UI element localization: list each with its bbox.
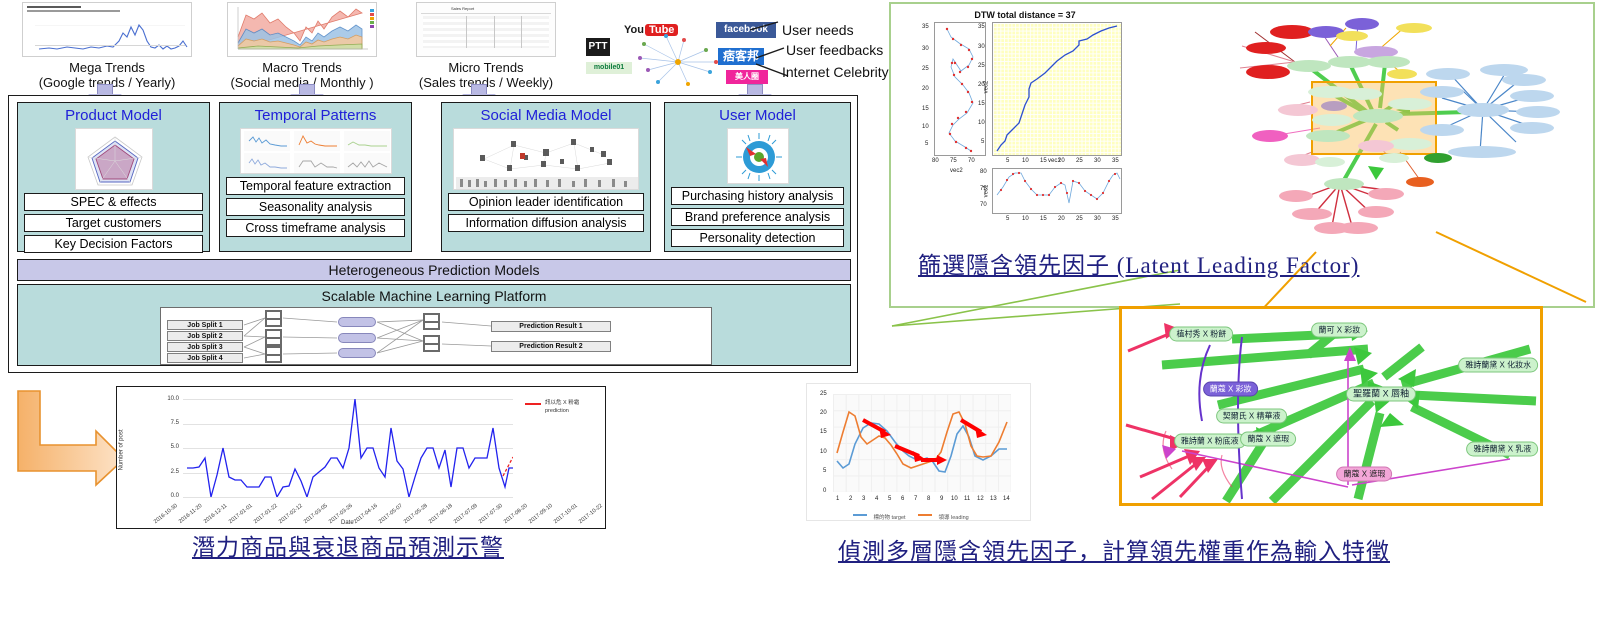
macro-trends-thumbnail <box>227 2 377 57</box>
micro-trends-thumbnail: Sales Report <box>416 2 556 57</box>
ll-ytick-20: 20 <box>820 410 827 416</box>
dtw-ytick-10: 10 <box>978 120 985 126</box>
lead-lag-plot-area <box>833 394 1011 492</box>
dtw-bot-xtick-30: 30 <box>1094 216 1101 222</box>
pipeline-pill-3 <box>338 348 376 358</box>
chart-axis <box>35 45 185 46</box>
ll-xtick-5: 5 <box>888 496 891 502</box>
pipeline-diagram: Job Split 1 Job Split 2 Job Split 3 Job … <box>160 307 712 365</box>
architecture-panel: Product Model SPEC & effects Target cust… <box>8 95 858 373</box>
line-chart-ylabel: Number of post <box>119 429 125 470</box>
dtw-bot-xtick-15: 15 <box>1040 216 1047 222</box>
xtick-3: 2017-01-01 <box>228 503 254 525</box>
product-item-2[interactable]: Key Decision Factors <box>24 235 203 253</box>
dtw-left-ytick-20: 20 <box>922 86 929 92</box>
dtw-left-ytick-35: 35 <box>922 24 929 30</box>
dtw-bot-xtick-10: 10 <box>1022 216 1029 222</box>
dtw-left-xtick-80: 80 <box>932 158 939 164</box>
zoom-node-2: 聖羅蘭 X 唇釉 <box>1346 387 1416 402</box>
zoom-node-1: 蘭可 X 彩妝 <box>1311 323 1367 338</box>
ytick-10: 10.0 <box>157 396 179 402</box>
ll-xtick-7: 7 <box>914 496 917 502</box>
pipeline-node-b1 <box>423 313 440 330</box>
dtw-warping-path <box>993 23 1121 155</box>
heterogeneous-prediction-models-band: Heterogeneous Prediction Models <box>17 259 851 281</box>
prediction-result-2: Prediction Result 2 <box>491 341 611 352</box>
ytick-7p5: 7.5 <box>157 420 179 426</box>
xtick-17: 2017-10-22 <box>578 503 604 525</box>
dtw-figure: DTW total distance = 37 <box>910 6 1140 234</box>
legend-swatches <box>370 9 374 29</box>
dtw-left-ytick-5: 5 <box>925 141 928 147</box>
ytick-2p5: 2.5 <box>157 469 179 475</box>
xtick-10: 2017-05-28 <box>403 503 429 525</box>
dtw-bot-ytick-70: 70 <box>980 202 987 208</box>
zoomed-network-graph: 植村秀 X 粉餅 蘭可 X 彩妝 聖羅蘭 X 唇釉 雅詩蘭黛 X 化妝水 雅詩蘭… <box>1119 306 1543 506</box>
xtick-5: 2017-02-12 <box>278 503 304 525</box>
macro-trends-area-chart <box>228 3 377 57</box>
dtw-bot-ytick-75: 75 <box>980 186 987 192</box>
dtw-bot-xtick-35: 35 <box>1112 216 1119 222</box>
dtw-vec1-curve <box>993 169 1121 213</box>
xtick-6: 2017-03-05 <box>303 503 329 525</box>
model-column-temporal: Temporal Patterns Temporal feature extra… <box>219 102 412 252</box>
dtw-main-yticks: 35 <box>978 24 985 30</box>
dtw-left-xlabel: vec2 <box>950 168 963 174</box>
social-media-model-title: Social Media Model <box>442 107 650 124</box>
dtw-ytick-25: 25 <box>978 63 985 69</box>
lead-label-user-needs: User needs <box>782 22 854 38</box>
model-column-user: User Model Purchasing history analysis <box>664 102 851 252</box>
product-item-1[interactable]: Target customers <box>24 214 203 232</box>
xtick-12: 2017-07-09 <box>453 503 479 525</box>
dtw-bottom-subplot <box>992 168 1122 214</box>
radar-chart-thumbnail <box>75 128 153 190</box>
dtw-left-subplot <box>934 22 986 156</box>
gridline-bottom <box>183 497 513 498</box>
ll-xtick-3: 3 <box>862 496 865 502</box>
dtw-bot-ytick-80: 80 <box>980 169 987 175</box>
temporal-item-1[interactable]: Seasonality analysis <box>226 198 405 216</box>
user-item-1[interactable]: Brand preference analysis <box>671 208 844 226</box>
dtw-left-ytick-10: 10 <box>922 124 929 130</box>
line-chart-xlabel: Date <box>341 520 354 526</box>
dtw-main-xtick-30: 30 <box>1094 158 1101 164</box>
lead-lag-legend: 標的物 target 領導 leading <box>853 506 969 524</box>
user-model-title: User Model <box>665 107 850 124</box>
user-gear-thumbnail <box>727 128 789 184</box>
lead-lag-chart: 25 20 15 10 5 0 1 2 3 4 5 6 7 8 9 10 11 … <box>806 383 1031 521</box>
zoom-node-4: 雅詩蘭黛 X 乳液 <box>1466 441 1538 456</box>
dtw-vec2-curve <box>935 23 985 155</box>
ll-xtick-9: 9 <box>940 496 943 502</box>
mega-trends-sparkline <box>23 3 192 57</box>
ll-xtick-2: 2 <box>849 496 852 502</box>
ll-xtick-1: 1 <box>836 496 839 502</box>
mega-trends-thumbnail <box>22 2 192 57</box>
dtw-main-xtick-20: 20 <box>1058 158 1065 164</box>
xtick-15: 2017-09-10 <box>528 503 554 525</box>
temporal-patterns-title: Temporal Patterns <box>220 107 411 124</box>
user-item-0[interactable]: Purchasing history analysis <box>671 187 844 205</box>
lead-lag-series <box>833 394 1011 492</box>
source-block-mega: Mega Trends (Google trends / Yearly) <box>22 2 192 90</box>
legend-label-prediction: prediction <box>545 408 601 414</box>
latent-factor-network-graph <box>1180 2 1600 252</box>
flow-arrow-to-forecast <box>6 389 128 489</box>
ll-xtick-14: 14 <box>1003 496 1010 502</box>
ll-xtick-12: 12 <box>977 496 984 502</box>
micro-trends-title: Micro Trends <box>400 60 572 75</box>
line-chart-plot-area <box>183 399 513 497</box>
pipeline-node-b2 <box>423 335 440 352</box>
macro-trends-title: Macro Trends <box>222 60 382 75</box>
zoom-node-7: 雅詩蘭 X 粉底液 <box>1174 433 1246 448</box>
model-column-product: Product Model SPEC & effects Target cust… <box>17 102 210 252</box>
zoom-node-3: 雅詩蘭黛 X 化妝水 <box>1458 358 1538 373</box>
dtw-main-xtick-25: 25 <box>1076 158 1083 164</box>
ll-xtick-4: 4 <box>875 496 878 502</box>
dtw-left-xtick-75: 75 <box>950 158 957 164</box>
ll-ytick-5: 5 <box>823 468 826 474</box>
dtw-ytick-15: 15 <box>978 101 985 107</box>
ll-ytick-15: 15 <box>820 429 827 435</box>
xtick-4: 2017-01-22 <box>253 503 279 525</box>
mini-timeseries-grid-thumbnail <box>240 128 392 174</box>
product-item-0[interactable]: SPEC & effects <box>24 193 203 211</box>
pipeline-node-a2 <box>265 329 282 346</box>
mega-trends-title: Mega Trends <box>22 60 192 75</box>
xtick-16: 2017-10-01 <box>553 503 579 525</box>
product-model-title: Product Model <box>18 107 209 124</box>
ll-ytick-10: 10 <box>820 449 827 455</box>
zoom-node-5: 蘭蔻 X 彩妝 <box>1203 381 1259 396</box>
dtw-ytick-5: 5 <box>981 139 984 145</box>
ptt-logo: PTT <box>586 38 610 56</box>
ll-xtick-13: 13 <box>990 496 997 502</box>
user-gear-icon <box>728 129 789 184</box>
temporal-item-0[interactable]: Temporal feature extraction <box>226 177 405 195</box>
dtw-warping-path-subplot <box>992 22 1122 156</box>
ll-xtick-6: 6 <box>901 496 904 502</box>
source-block-macro: Macro Trends (Social media / Monthly ) <box>222 2 382 90</box>
dtw-main-xtick-10: 10 <box>1022 158 1029 164</box>
xtick-0: 2016-10-30 <box>153 503 179 525</box>
dtw-ytick-30: 30 <box>978 44 985 50</box>
dtw-main-xtick-15: 15 <box>1040 158 1047 164</box>
report-header: Sales Report <box>421 6 551 14</box>
ll-ytick-25: 25 <box>820 391 827 397</box>
pipeline-node-a3 <box>265 346 282 363</box>
xtick-13: 2017-07-30 <box>478 503 504 525</box>
social-network-thumbnail <box>453 128 639 190</box>
dtw-main-xtick-5: 5 <box>1006 158 1009 164</box>
post-count-series <box>183 399 513 497</box>
ll-ytick-0: 0 <box>823 488 826 494</box>
caption-multilayer-factors: 偵測多層隱含領先因子，計算領先權重作為輸入特徵 <box>838 536 1528 568</box>
zoom-node-8: 蘭蔻 X 遮瑕 <box>1240 431 1296 446</box>
pipeline-pill-1 <box>338 317 376 327</box>
dtw-ytick-20: 20 <box>978 82 985 88</box>
dtw-bot-xtick-5: 5 <box>1006 216 1009 222</box>
user-item-2[interactable]: Personality detection <box>671 229 844 247</box>
legend-target: 標的物 target <box>873 515 905 521</box>
pipeline-pill-2 <box>338 333 376 343</box>
network-burst-icon <box>622 28 742 92</box>
lead-label-user-feedbacks: User feedbacks <box>786 42 883 58</box>
xtick-9: 2017-05-07 <box>378 503 404 525</box>
ll-xtick-11: 11 <box>964 496 970 502</box>
dtw-bot-xtick-25: 25 <box>1076 216 1083 222</box>
xtick-2: 2016-12-11 <box>203 503 229 525</box>
dtw-left-ytick-30: 30 <box>922 46 929 52</box>
mini-timeseries-grid <box>241 129 392 174</box>
social-item-1[interactable]: Information diffusion analysis <box>448 214 644 232</box>
temporal-item-2[interactable]: Cross timeframe analysis <box>226 219 405 237</box>
xtick-8: 2017-04-16 <box>353 503 379 525</box>
ytick-0: 0.0 <box>157 493 179 499</box>
social-item-0[interactable]: Opinion leader identification <box>448 193 644 211</box>
dtw-left-ytick-25: 25 <box>922 66 929 72</box>
dtw-bot-xtick-20: 20 <box>1058 216 1065 222</box>
dtw-main-xtick-35: 35 <box>1112 158 1119 164</box>
prediction-result-1: Prediction Result 1 <box>491 321 611 332</box>
radar-chart <box>76 129 153 190</box>
report-table <box>423 16 549 48</box>
social-network-graph <box>454 129 639 190</box>
scalable-ml-platform-band: Scalable Machine Learning Platform Job S… <box>17 284 851 366</box>
ytick-5: 5.0 <box>157 444 179 450</box>
platform-title: Scalable Machine Learning Platform <box>18 288 850 305</box>
ll-xtick-10: 10 <box>951 496 958 502</box>
source-block-micro: Sales Report Micro Trends (Sales trends … <box>400 2 572 90</box>
zoom-node-0: 植村秀 X 粉餅 <box>1170 327 1234 342</box>
legend-label-series: 訊以危 X 粉霜 <box>545 398 579 406</box>
zoom-node-9: 蘭蔻 X 遮瑕 <box>1337 466 1393 481</box>
lead-label-internet-celebrity: Internet Celebrity <box>782 64 889 80</box>
xtick-1: 2016-11-20 <box>178 503 204 525</box>
legend-leading: 領導 leading <box>938 515 968 521</box>
xtick-14: 2017-08-20 <box>503 503 529 525</box>
ll-xtick-8: 8 <box>927 496 930 502</box>
pipeline-node-a1 <box>265 310 282 327</box>
xtick-11: 2017-06-18 <box>428 503 454 525</box>
dtw-title: DTW total distance = 37 <box>910 10 1140 20</box>
zoom-node-6: 契爾氏 X 精華液 <box>1216 408 1288 423</box>
dtw-left-ytick-15: 15 <box>922 106 929 112</box>
caption-product-forecast: 潛力商品與衰退商品預測示警 <box>192 532 612 564</box>
post-count-forecast-chart: Number of post Date 10.0 7.5 5.0 2.5 0.0… <box>116 386 606 529</box>
line-chart-legend: 訊以危 X 粉霜 prediction <box>525 399 601 414</box>
model-column-social: Social Media Model <box>441 102 651 252</box>
dtw-left-xtick-70: 70 <box>968 158 975 164</box>
caption-latent-leading-factor: 篩選隱含領先因子 (Latent Leading Factor) <box>918 250 1478 282</box>
